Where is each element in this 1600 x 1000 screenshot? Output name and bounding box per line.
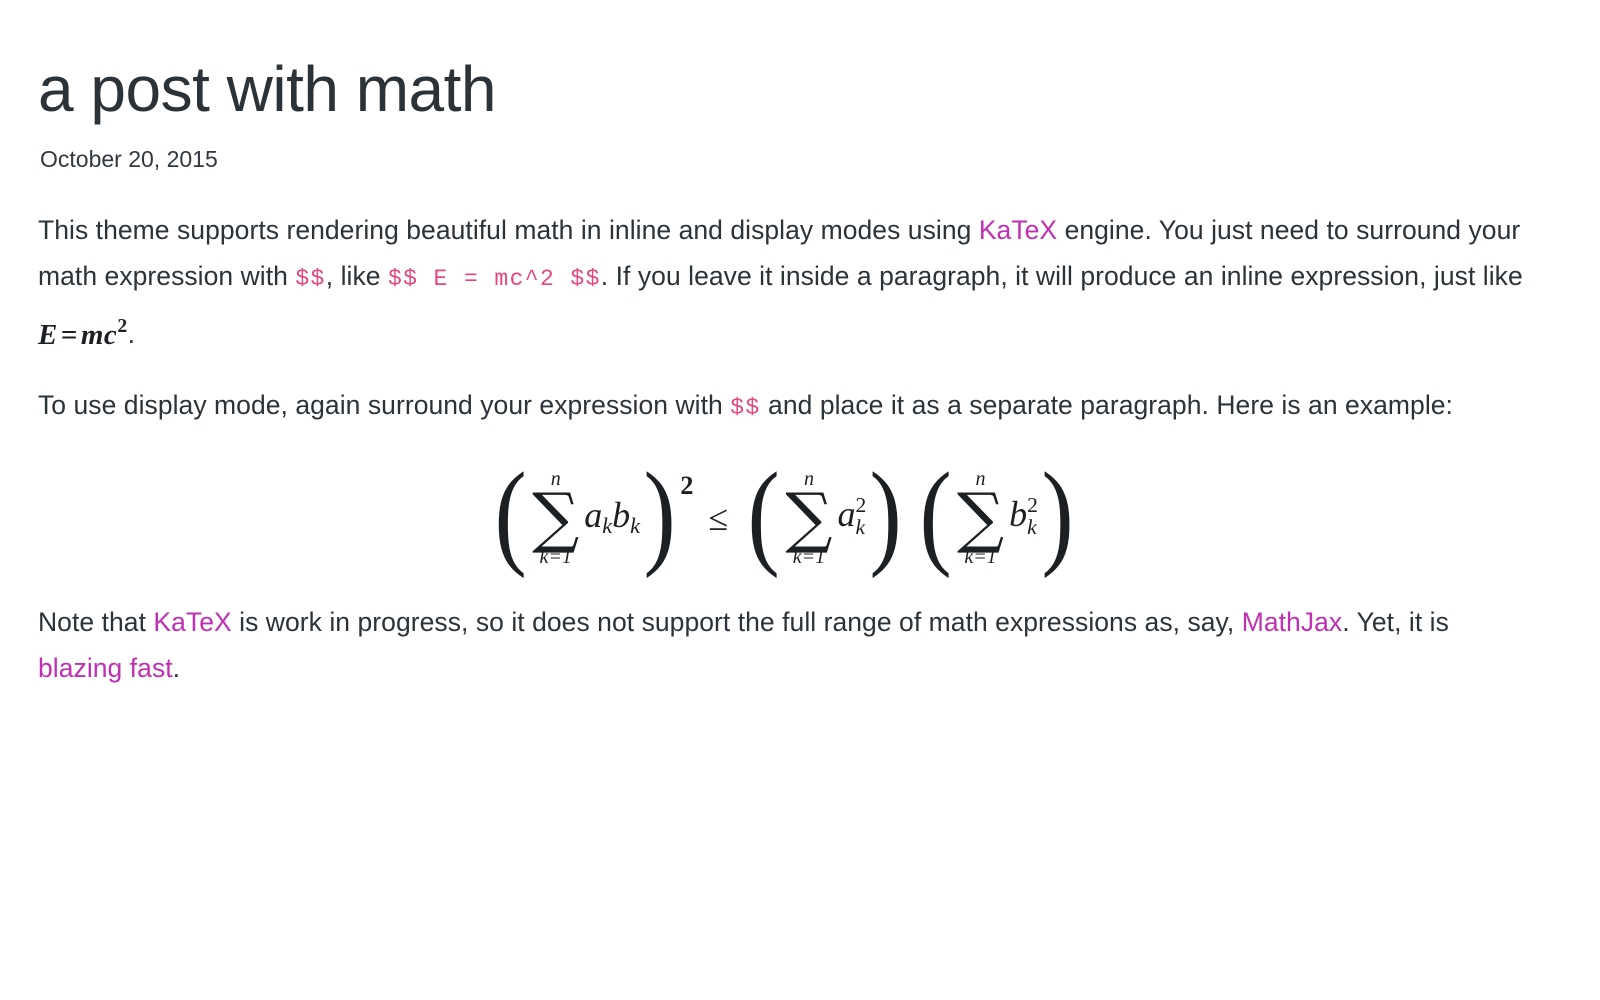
- inline-math-operator: =: [58, 319, 81, 351]
- sum-lower-limit-1: k=1: [540, 547, 572, 567]
- sum-lower-limit-3: k=1: [964, 547, 996, 567]
- page-title: a post with math: [38, 56, 1560, 124]
- summation-3: n ∑ k=1: [957, 469, 1004, 567]
- paragraph3-text-4: .: [173, 653, 180, 683]
- link-mathjax[interactable]: MathJax: [1242, 607, 1343, 637]
- paragraph3-text-1: Note that: [38, 607, 153, 637]
- post-body: This theme supports rendering beautiful …: [38, 207, 1530, 690]
- term-b-subscript: k: [630, 514, 640, 539]
- paragraph1-text-1: This theme supports rendering beautiful …: [38, 215, 979, 245]
- paren-open-3: (: [919, 468, 951, 560]
- term-a: a: [584, 495, 602, 535]
- post-page: a post with math October 20, 2015 This t…: [0, 0, 1600, 1000]
- sigma-icon: ∑: [785, 491, 832, 545]
- equation-group-3: ( n ∑ k=1 b2k ): [916, 467, 1078, 565]
- paragraph1-text-4: . If you leave it inside a paragraph, it…: [601, 261, 1523, 291]
- paragraph2-text-1: To use display mode, again surround your…: [38, 390, 730, 420]
- term-bk-squared: b2k: [1006, 495, 1038, 540]
- equation-group-1: ( n ∑ k=1 akbk ) 2: [491, 467, 693, 565]
- code-dollars-1: $$: [295, 266, 325, 292]
- paragraph3-text-2: is work in progress, so it does not supp…: [232, 607, 1242, 637]
- sigma-icon: ∑: [957, 491, 1004, 545]
- inline-math-rhs: mc: [81, 319, 117, 351]
- summation-2: n ∑ k=1: [785, 469, 832, 567]
- paragraph-intro: This theme supports rendering beautiful …: [38, 207, 1530, 357]
- paragraph-note: Note that KaTeX is work in progress, so …: [38, 599, 1530, 691]
- equation-group-2: ( n ∑ k=1 a2k ): [744, 467, 906, 565]
- paragraph1-text-3: , like: [326, 261, 388, 291]
- link-blazing-fast[interactable]: blazing fast: [38, 653, 173, 683]
- inline-math-lhs: E: [38, 319, 58, 351]
- paragraph3-text-3: . Yet, it is: [1342, 607, 1449, 637]
- term-ak-squared: a2k: [835, 495, 867, 540]
- inline-math-emc2: E=mc2: [38, 319, 128, 351]
- term-a-subscript-2: k: [856, 516, 867, 539]
- term-b-2: b: [1009, 494, 1027, 534]
- link-katex-1[interactable]: KaTeX: [979, 215, 1057, 245]
- inline-math-exponent: 2: [117, 314, 127, 336]
- paren-close-2: ): [870, 468, 902, 560]
- paren-open-1: (: [494, 468, 526, 560]
- term-a-subsup: 2k: [856, 494, 867, 539]
- sigma-icon: ∑: [532, 491, 579, 545]
- term-b-subscript-2: k: [1027, 516, 1038, 539]
- summation-1: n ∑ k=1: [532, 469, 579, 567]
- group1-exponent: 2: [680, 473, 693, 499]
- cauchy-schwarz-equation: ( n ∑ k=1 akbk ) 2 ≤ ( n ∑: [491, 467, 1077, 565]
- term-a-superscript: 2: [856, 494, 867, 517]
- term-b-subsup: 2k: [1027, 494, 1038, 539]
- term-akbk: akbk: [581, 497, 640, 538]
- relation-less-equal: ≤: [692, 500, 744, 536]
- code-dollars-2: $$: [730, 395, 760, 421]
- paragraph-display-mode: To use display mode, again surround your…: [38, 382, 1530, 431]
- term-a-2: a: [838, 494, 856, 534]
- paragraph2-text-2: and place it as a separate paragraph. He…: [761, 390, 1453, 420]
- post-date: October 20, 2015: [40, 146, 1560, 174]
- paragraph1-text-5: .: [128, 320, 135, 350]
- term-b: b: [612, 495, 630, 535]
- sum-lower-limit-2: k=1: [793, 547, 825, 567]
- term-b-superscript: 2: [1027, 494, 1038, 517]
- term-a-subscript: k: [602, 514, 612, 539]
- paren-close-1: ): [644, 468, 676, 560]
- paren-close-3: ): [1041, 468, 1073, 560]
- display-math-block: ( n ∑ k=1 akbk ) 2 ≤ ( n ∑: [38, 467, 1530, 565]
- code-example-inline: $$ E = mc^2 $$: [388, 266, 601, 292]
- link-katex-2[interactable]: KaTeX: [153, 607, 231, 637]
- paren-open-2: (: [748, 468, 780, 560]
